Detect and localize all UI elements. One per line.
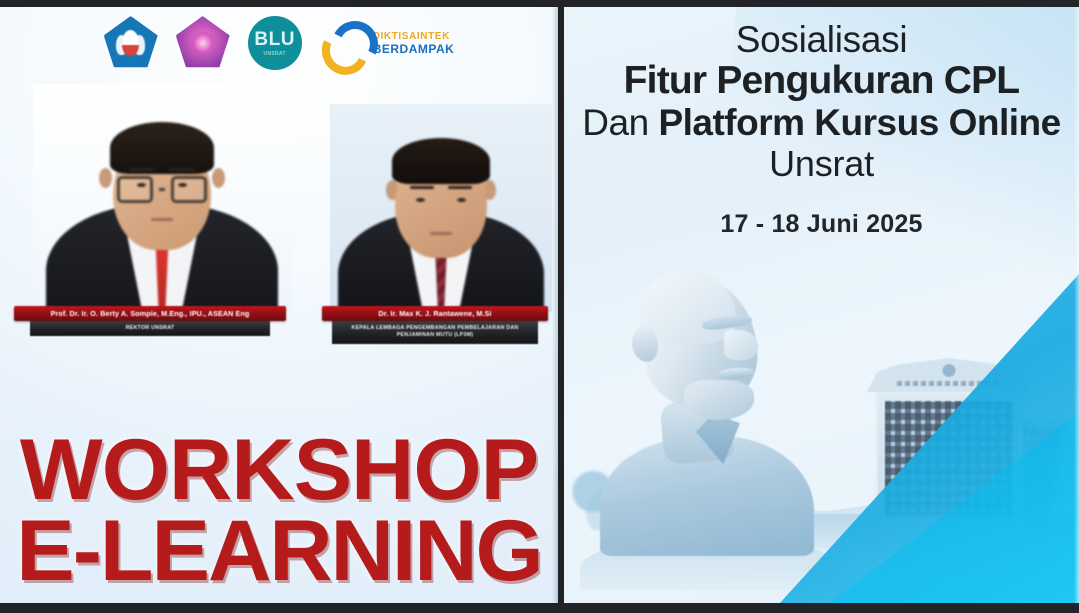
- diktisaintek-line1: DIKTISAINTEK: [373, 31, 455, 42]
- letterbox-band-top: [0, 0, 1079, 7]
- speaker-role-1: REKTOR UNSRAT: [30, 321, 270, 336]
- headline-line-1: Sosialisasi: [564, 20, 1079, 60]
- headline-line-3-bold: Platform Kursus Online: [658, 102, 1060, 143]
- headline-line-4: Unsrat: [564, 144, 1079, 184]
- diktisaintek-wordmark: DIKTISAINTEK BERDAMPAK: [373, 31, 455, 56]
- speaker-name-2: Dr. Ir. Max K. J. Rantawene, M.Si: [322, 306, 548, 321]
- speaker-photo-2: [330, 104, 552, 312]
- speaker-photo-1: [33, 84, 291, 312]
- right-edge-highlight: [1074, 6, 1079, 604]
- diktisaintek-swoosh-icon: [320, 21, 366, 65]
- logo-row: BLU UNSRAT DIKTISAINTEK BERDAMPAK: [0, 12, 558, 74]
- blu-badge-icon: BLU UNSRAT: [248, 16, 302, 70]
- headline-line-2: Fitur Pengukuran CPL: [564, 60, 1079, 102]
- blu-logo-line2: UNSRAT: [264, 51, 286, 57]
- poster-canvas: BLU UNSRAT DIKTISAINTEK BERDAMPAK: [0, 0, 1079, 613]
- workshop-title-line2: E-LEARNING: [0, 511, 558, 592]
- headline-line-3: Dan Platform Kursus Online: [564, 102, 1079, 143]
- speaker-nameplate-2: Dr. Ir. Max K. J. Rantawene, M.Si KEPALA…: [322, 306, 548, 344]
- workshop-title: WORKSHOP E-LEARNING: [0, 430, 558, 592]
- speaker-name-1: Prof. Dr. Ir. O. Berty A. Sompie, M.Eng.…: [14, 306, 286, 321]
- letterbox-band-bottom: [0, 603, 1079, 613]
- headline-line-3-prefix: Dan: [582, 102, 658, 143]
- headline-block: Sosialisasi Fitur Pengukuran CPL Dan Pla…: [564, 20, 1079, 237]
- sam-ratulangi-statue-illustration: [606, 264, 816, 574]
- diktisaintek-line2: BERDAMPAK: [373, 42, 455, 56]
- right-panel: Sosialisasi Fitur Pengukuran CPL Dan Pla…: [564, 6, 1079, 604]
- diktisaintek-logo: DIKTISAINTEK BERDAMPAK: [320, 21, 455, 65]
- speaker-role-2: KEPALA LEMBAGA PENGEMBANGAN PEMBELAJARAN…: [332, 321, 538, 344]
- unsrat-emblem-icon: [176, 16, 230, 70]
- event-date: 17 - 18 Juni 2025: [564, 212, 1079, 237]
- tut-wuri-handayani-icon: [104, 16, 158, 70]
- speaker-nameplate-1: Prof. Dr. Ir. O. Berty A. Sompie, M.Eng.…: [14, 306, 286, 336]
- left-panel: BLU UNSRAT DIKTISAINTEK BERDAMPAK: [0, 6, 558, 604]
- blu-logo-line1: BLU: [254, 30, 295, 49]
